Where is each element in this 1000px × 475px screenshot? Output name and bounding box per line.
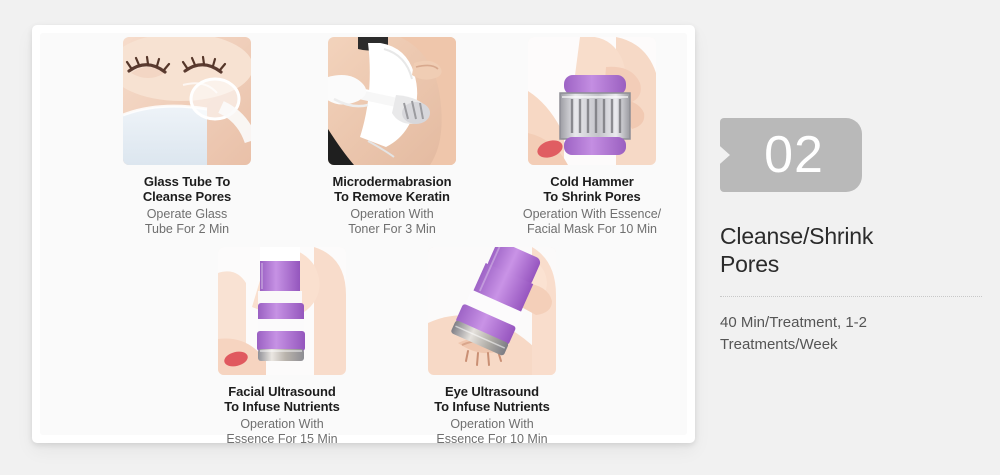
step-subtitle: Operation With Essence For 10 Min <box>392 417 592 446</box>
step-number-label: 02 <box>758 129 824 181</box>
steps-panel: Glass Tube To Cleanse Pores Operate Glas… <box>32 25 695 443</box>
info-panel: 02 Cleanse/Shrink Pores 40 Min/Treatment… <box>720 118 982 356</box>
info-treatment-duration: 40 Min/Treatment, 1-2 Treatments/Week <box>720 312 982 356</box>
step-card-facial-ultrasound[interactable]: Facial Ultrasound To Infuse Nutrients Op… <box>182 247 382 446</box>
step-thumbnail-facial-ultrasound <box>218 247 346 375</box>
step-title: Cold Hammer To Shrink Pores <box>492 174 692 204</box>
step-card-cold-hammer[interactable]: Cold Hammer To Shrink Pores Operation Wi… <box>492 37 692 236</box>
step-card-eye-ultrasound[interactable]: Eye Ultrasound To Infuse Nutrients Opera… <box>392 247 592 446</box>
step-card-glass-tube[interactable]: Glass Tube To Cleanse Pores Operate Glas… <box>87 37 287 236</box>
info-divider <box>720 296 982 297</box>
screenshot-root: Glass Tube To Cleanse Pores Operate Glas… <box>0 0 1000 475</box>
step-thumbnail-eye-ultrasound <box>428 247 556 375</box>
step-subtitle: Operation With Essence/ Facial Mask For … <box>492 207 692 236</box>
step-title: Facial Ultrasound To Infuse Nutrients <box>182 384 382 414</box>
step-number-badge: 02 <box>720 118 862 192</box>
step-title: Glass Tube To Cleanse Pores <box>87 174 287 204</box>
step-subtitle: Operate Glass Tube For 2 Min <box>87 207 287 236</box>
info-heading: Cleanse/Shrink Pores <box>720 222 982 278</box>
step-thumbnail-glass-tube <box>123 37 251 165</box>
step-card-microdermabrasion[interactable]: Microdermabrasion To Remove Keratin Oper… <box>292 37 492 236</box>
step-subtitle: Operation With Toner For 3 Min <box>292 207 492 236</box>
step-subtitle: Operation With Essence For 15 Min <box>182 417 382 446</box>
step-title: Eye Ultrasound To Infuse Nutrients <box>392 384 592 414</box>
step-title: Microdermabrasion To Remove Keratin <box>292 174 492 204</box>
step-thumbnail-cold-hammer <box>528 37 656 165</box>
step-thumbnail-microdermabrasion <box>328 37 456 165</box>
steps-grid: Glass Tube To Cleanse Pores Operate Glas… <box>32 25 695 443</box>
